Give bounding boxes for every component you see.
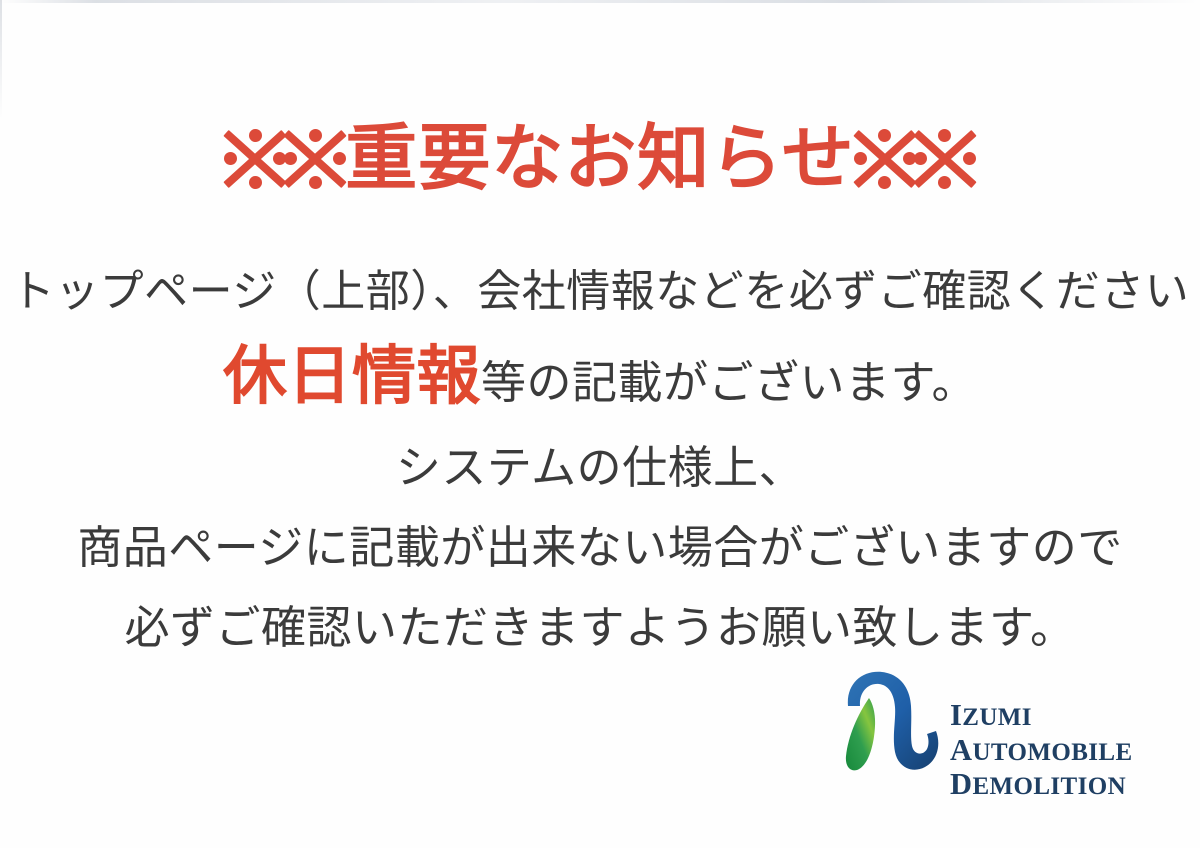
company-logo: IZUMI AUTOMOBILE DEMOLITION — [828, 662, 1104, 784]
reference-mark-icon — [283, 127, 347, 191]
logo-line-izumi: IZUMI — [950, 700, 1133, 731]
holiday-info-emphasis: 休日情報 — [223, 344, 481, 408]
headline: 重要なお知らせ — [0, 108, 1200, 205]
notice-content: 重要なお知らせ トップページ（上部）、会社情報などを必ずご確認ください 休日情報… — [0, 0, 1200, 848]
logo-wordmark: IZUMI AUTOMOBILE DEMOLITION — [950, 700, 1133, 800]
notice-line-2-rest: 等の記載がございます。 — [481, 351, 977, 415]
notice-line-5: 必ずご確認いただきますようお願い致します。 — [0, 600, 1200, 656]
reference-mark-icon — [853, 127, 917, 191]
headline-text: 重要なお知らせ — [345, 113, 855, 205]
notice-line-2: 休日情報等の記載がございます。 — [0, 344, 1200, 415]
notice-line-3: システムの仕様上、 — [0, 440, 1200, 496]
notice-line-4: 商品ページに記載が出来ない場合がございますので — [0, 520, 1200, 576]
logo-line-automobile: AUTOMOBILE — [950, 735, 1133, 766]
izumi-wave-leaf-mark-icon — [828, 662, 946, 780]
notice-line-1: トップページ（上部）、会社情報などを必ずご確認ください — [0, 264, 1200, 320]
reference-mark-icon — [223, 127, 287, 191]
notice-sheet: 重要なお知らせ トップページ（上部）、会社情報などを必ずご確認ください 休日情報… — [0, 0, 1200, 848]
reference-mark-icon — [913, 127, 977, 191]
logo-line-demolition: DEMOLITION — [950, 769, 1133, 800]
